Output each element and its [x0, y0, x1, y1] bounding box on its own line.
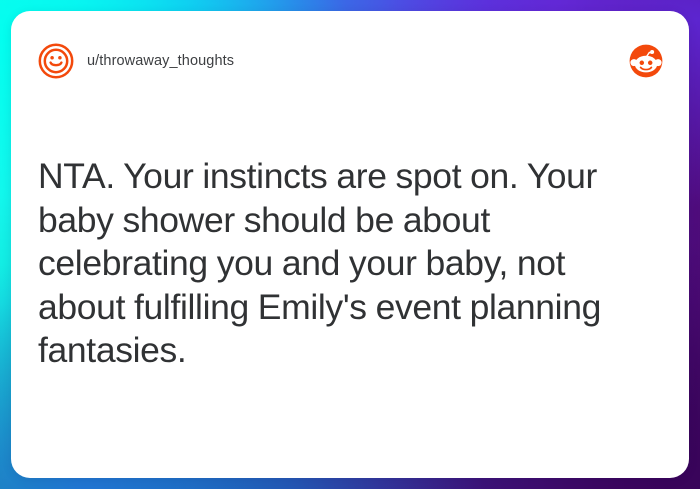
reddit-comment-card: u/throwaway_thoughts NTA. Your ins [11, 11, 689, 478]
smiley-face-avatar-icon [38, 43, 74, 79]
reddit-snoo-icon[interactable] [629, 44, 663, 78]
comment-body: NTA. Your instincts are spot on. Your ba… [38, 155, 646, 373]
comment-text: NTA. Your instincts are spot on. Your ba… [38, 155, 646, 373]
author-username: u/throwaway_thoughts [87, 54, 234, 69]
screenshot-canvas: u/throwaway_thoughts NTA. Your ins [0, 0, 700, 489]
author-block[interactable]: u/throwaway_thoughts [38, 43, 629, 79]
card-header: u/throwaway_thoughts [11, 11, 689, 111]
